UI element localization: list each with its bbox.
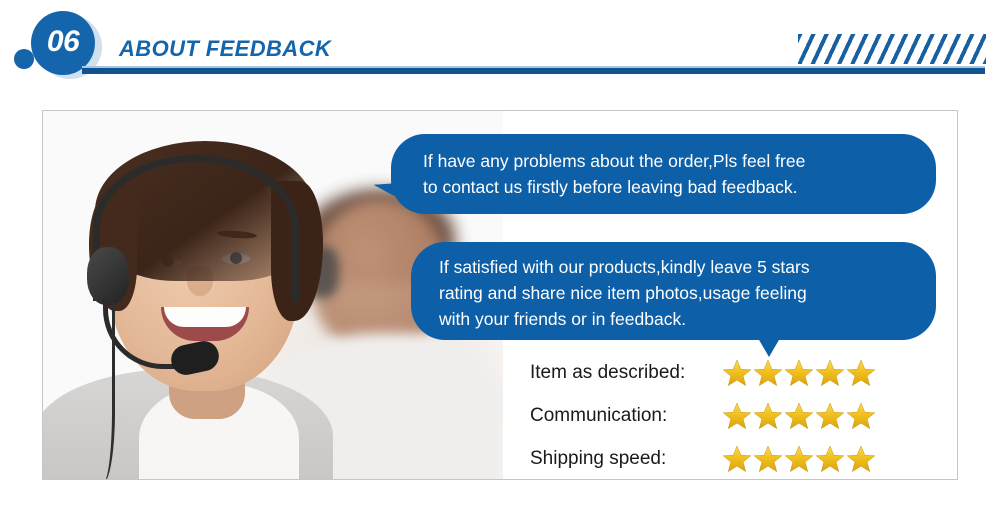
section-number-label: 06: [47, 27, 79, 59]
star-icon: [846, 444, 876, 474]
badge-small-dot: [14, 49, 34, 69]
rating-label: Shipping speed:: [530, 448, 722, 470]
rating-stars: [722, 444, 876, 474]
star-icon: [722, 444, 752, 474]
header-rule-dark: [82, 68, 985, 74]
star-icon: [784, 358, 814, 388]
rating-row-communication: Communication:: [530, 394, 950, 437]
star-icon: [753, 358, 783, 388]
star-icon: [784, 401, 814, 431]
diagonal-stripes-decoration: [798, 34, 986, 64]
ratings-list: Item as described: Communication: Shippi…: [530, 351, 950, 480]
speech-bubble-1: If have any problems about the order,Pls…: [391, 134, 936, 214]
page-title: ABOUT FEEDBACK: [119, 36, 331, 62]
star-icon: [815, 444, 845, 474]
star-icon: [815, 358, 845, 388]
star-icon: [753, 401, 783, 431]
star-icon: [815, 401, 845, 431]
star-icon: [722, 401, 752, 431]
rating-stars: [722, 358, 876, 388]
star-icon: [846, 401, 876, 431]
speech-bubble-1-text: If have any problems about the order,Pls…: [423, 148, 912, 200]
star-icon: [722, 358, 752, 388]
star-icon: [784, 444, 814, 474]
rating-label: Communication:: [530, 405, 722, 427]
star-icon: [753, 444, 783, 474]
rating-label: Item as described:: [530, 362, 722, 384]
content-frame: If have any problems about the order,Pls…: [42, 110, 958, 480]
rating-row-shipping-speed: Shipping speed:: [530, 437, 950, 480]
headset-cord: [85, 303, 115, 479]
speech-bubble-2: If satisfied with our products,kindly le…: [411, 242, 936, 340]
rating-stars: [722, 401, 876, 431]
speech-bubble-2-text: If satisfied with our products,kindly le…: [439, 254, 914, 332]
page-header: 06 ABOUT FEEDBACK: [0, 0, 1000, 95]
rating-row-item-as-described: Item as described:: [530, 351, 950, 394]
star-icon: [846, 358, 876, 388]
